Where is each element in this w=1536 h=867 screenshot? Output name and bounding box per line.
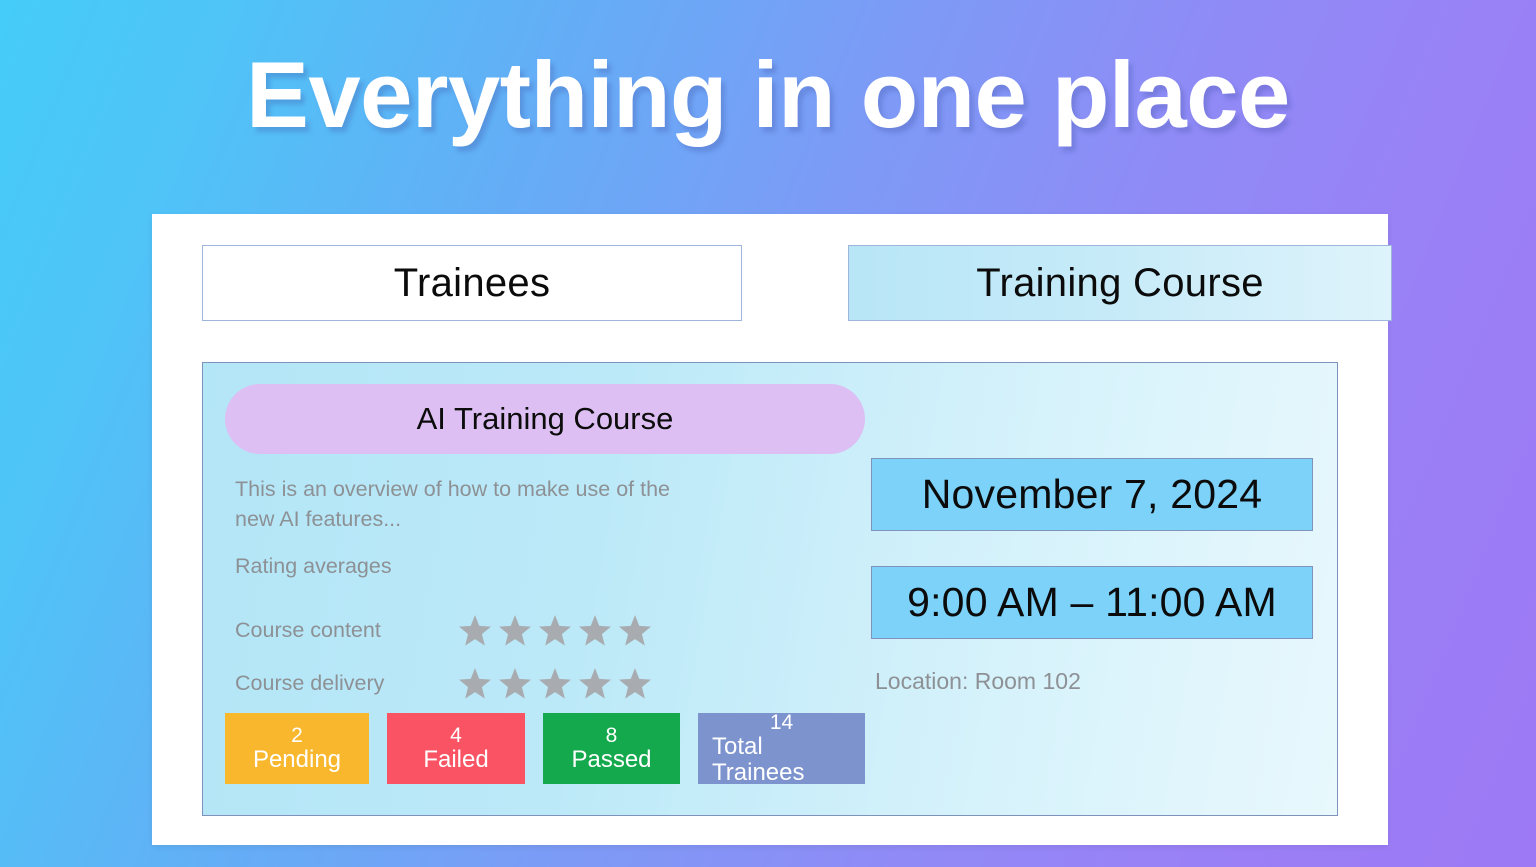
tab-trainees[interactable]: Trainees [202,245,742,321]
stat-value-pending: 2 [291,725,303,747]
training-course-panel: AI Training Course This is an overview o… [202,362,1338,816]
stat-badge-passed[interactable]: 8 Passed [543,713,680,784]
page-title: Everything in one place [0,44,1536,146]
main-card: Trainees Training Course AI Training Cou… [152,214,1388,845]
stat-label-total-trainees: Total Trainees [712,734,851,785]
tab-bar: Trainees Training Course [202,245,1342,321]
star-icon[interactable] [459,668,491,699]
ratings-heading: Rating averages [235,554,392,579]
stat-label-passed: Passed [571,747,651,772]
course-location: Location: Room 102 [875,668,1081,695]
stat-badge-pending[interactable]: 2 Pending [225,713,369,784]
stat-value-passed: 8 [606,725,618,747]
stat-value-failed: 4 [450,725,462,747]
rating-row: Course content [235,613,651,647]
stat-badges: 2 Pending 4 Failed 8 Passed 14 Total Tra… [225,713,865,784]
course-title-pill[interactable]: AI Training Course [225,384,865,454]
rating-label-course-content: Course content [235,618,459,643]
tab-training-course[interactable]: Training Course [848,245,1392,321]
star-icon[interactable] [499,668,531,699]
star-rating-course-delivery[interactable] [459,668,651,699]
course-description: This is an overview of how to make use o… [235,475,705,534]
star-icon[interactable] [499,615,531,646]
rating-row: Course delivery [235,666,651,700]
star-icon[interactable] [539,668,571,699]
stat-label-failed: Failed [423,747,488,772]
course-time-box[interactable]: 9:00 AM – 11:00 AM [871,566,1313,639]
star-icon[interactable] [539,615,571,646]
star-icon[interactable] [579,668,611,699]
stat-badge-failed[interactable]: 4 Failed [387,713,525,784]
star-icon[interactable] [459,615,491,646]
star-icon[interactable] [579,615,611,646]
stat-value-total-trainees: 14 [770,712,793,734]
star-icon[interactable] [619,615,651,646]
star-rating-course-content[interactable] [459,615,651,646]
star-icon[interactable] [619,668,651,699]
course-date-box[interactable]: November 7, 2024 [871,458,1313,531]
stat-badge-total-trainees[interactable]: 14 Total Trainees [698,713,865,784]
rating-label-course-delivery: Course delivery [235,671,459,696]
stat-label-pending: Pending [253,747,341,772]
